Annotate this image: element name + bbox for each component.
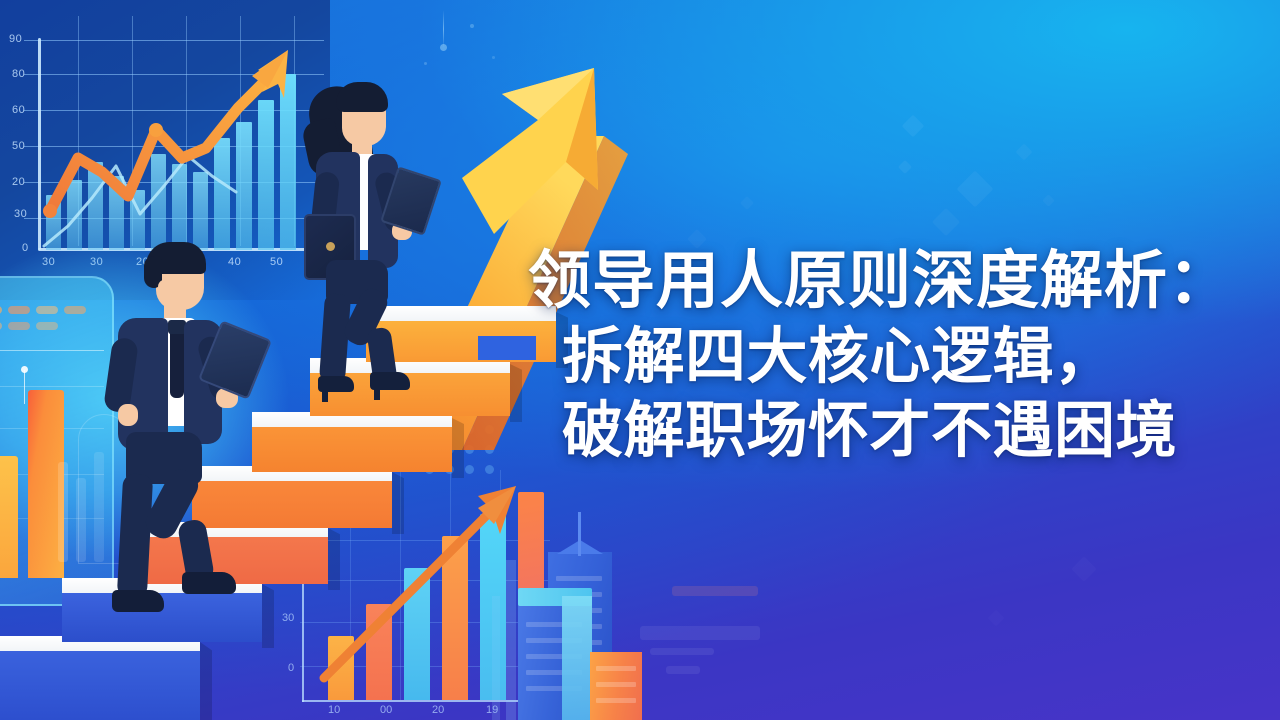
tower-wide-lightcap — [562, 596, 592, 720]
briefcase-clasp — [326, 242, 335, 251]
tower-orange — [590, 652, 642, 720]
shoe-heel — [374, 386, 380, 400]
headline-line-2: 拆解四大核心逻辑， — [528, 319, 1258, 393]
shoe — [182, 572, 236, 594]
hand — [118, 404, 138, 426]
hair-fringe — [336, 82, 388, 112]
stair-step — [0, 636, 200, 720]
headline: 领导用人原则深度解析： 拆解四大核心逻辑， 破解职场怀才不遇困境 — [528, 243, 1258, 467]
figure-businesswoman — [296, 76, 476, 386]
headline-line-1: 领导用人原则深度解析： — [528, 243, 1258, 319]
leg — [117, 473, 153, 598]
ear — [158, 280, 170, 294]
panel-bar — [0, 456, 18, 578]
figure-businessman — [96, 236, 306, 636]
headline-line-3: 破解职场怀才不遇困境 — [528, 393, 1258, 467]
shoe-heel — [322, 388, 328, 402]
x-tick-label: 20 — [432, 704, 444, 716]
poster-canvas: 90 80 60 50 20 30 0 — [0, 0, 1280, 720]
tower-ghost — [506, 560, 516, 720]
tie — [170, 324, 184, 398]
shoe — [112, 590, 164, 612]
x-tick-label: 00 — [380, 704, 392, 716]
x-tick-label: 10 — [328, 704, 340, 716]
tower-spire — [578, 512, 581, 556]
tower-ghost — [492, 596, 500, 720]
